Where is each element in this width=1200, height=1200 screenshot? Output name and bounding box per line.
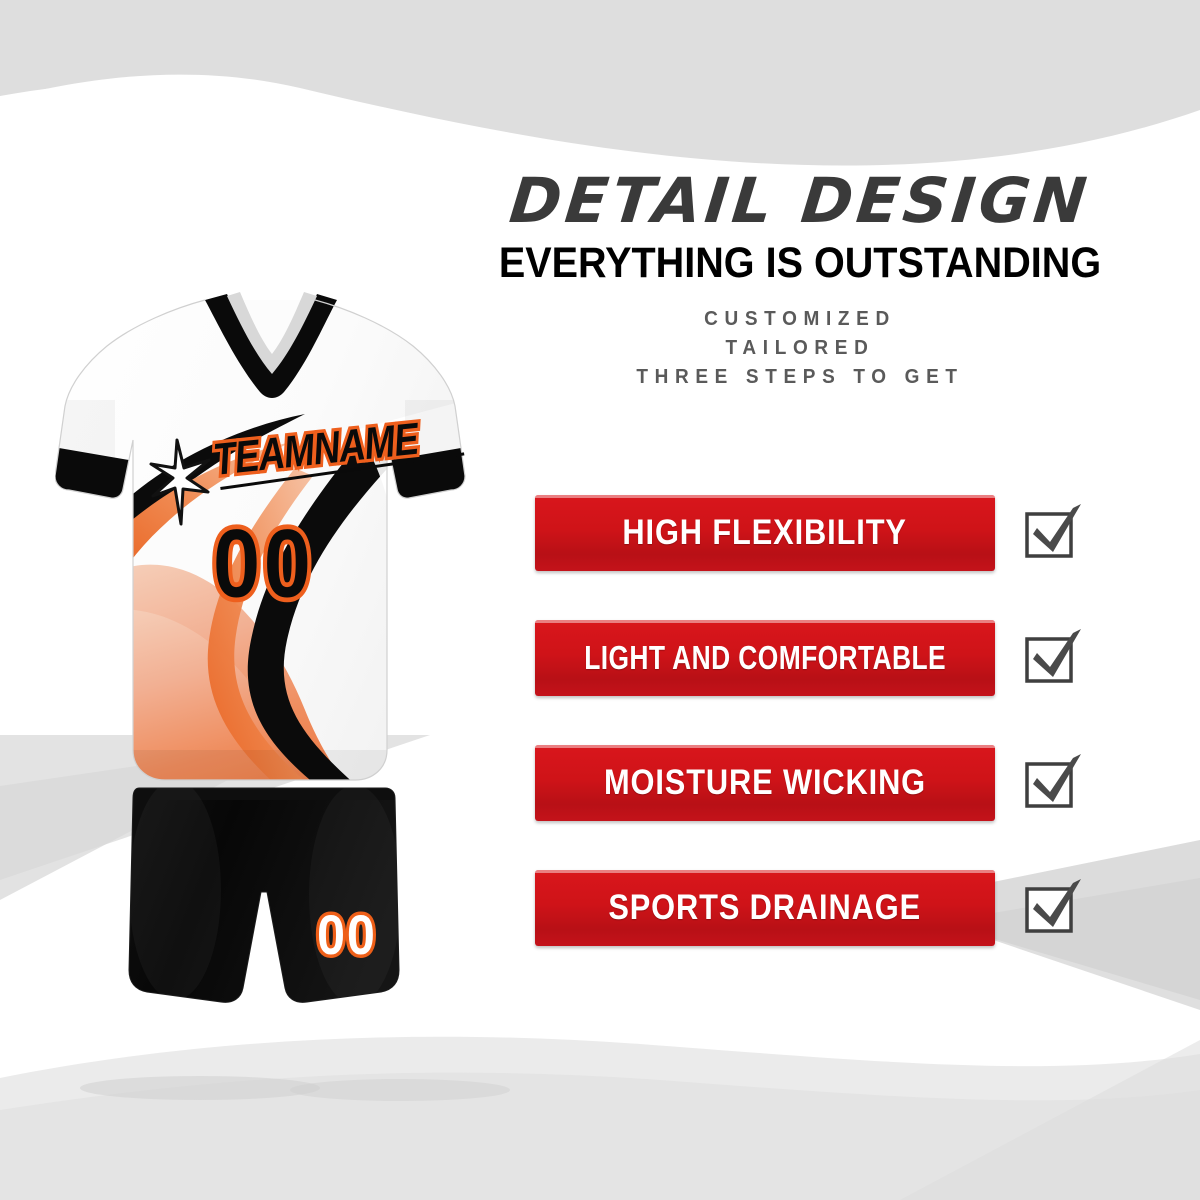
feature-bar-high-flexibility[interactable]: HIGH FLEXIBILITY [535,495,995,571]
checkbox-checked-icon[interactable] [1023,752,1085,814]
feature-label: SPORTS DRAINAGE [609,888,922,928]
shorts [115,780,415,1010]
uniform-mockup: TEAMNAME 00 00 [55,280,525,1070]
feature-bar-light-and-comfortable[interactable]: LIGHT AND COMFORTABLE [535,620,995,696]
feature-label: HIGH FLEXIBILITY [623,513,907,553]
feature-row[interactable]: HIGH FLEXIBILITY [535,495,1095,571]
feature-label: MOISTURE WICKING [604,763,926,803]
checkbox-checked-icon[interactable] [1023,877,1085,939]
feature-row[interactable]: MOISTURE WICKING [535,745,1095,821]
tagline-line-3: THREE STEPS TO GET [458,363,1142,392]
feature-row[interactable]: SPORTS DRAINAGE [535,870,1095,946]
shorts-number: 00 [317,905,377,967]
feature-bar-sports-drainage[interactable]: SPORTS DRAINAGE [535,870,995,946]
tagline-line-2: TAILORED [458,334,1142,363]
checkbox-checked-icon[interactable] [1023,627,1085,689]
tagline-line-1: CUSTOMIZED [458,305,1142,334]
feature-list: HIGH FLEXIBILITY LIGHT AND COMFORTABLE [535,495,1095,946]
checkbox-checked-icon[interactable] [1023,502,1085,564]
page-title: DETAIL DESIGN [437,170,1164,232]
feature-label: LIGHT AND COMFORTABLE [584,639,946,677]
tagline-block: CUSTOMIZED TAILORED THREE STEPS TO GET [458,305,1142,392]
jersey-number: 00 [213,510,314,617]
headline-block: DETAIL DESIGN EVERYTHING IS OUTSTANDING … [440,170,1160,392]
page-subtitle: EVERYTHING IS OUTSTANDING [469,242,1131,285]
shorts-number-text: 00 [317,905,377,967]
feature-bar-moisture-wicking[interactable]: MOISTURE WICKING [535,745,995,821]
infographic-canvas: TEAMNAME 00 00 DETAIL DESIGN EVERYTH [0,0,1200,1200]
feature-row[interactable]: LIGHT AND COMFORTABLE [535,620,1095,696]
uniform-svg: TEAMNAME 00 00 [55,280,525,1070]
jersey-number-text: 00 [213,510,314,617]
